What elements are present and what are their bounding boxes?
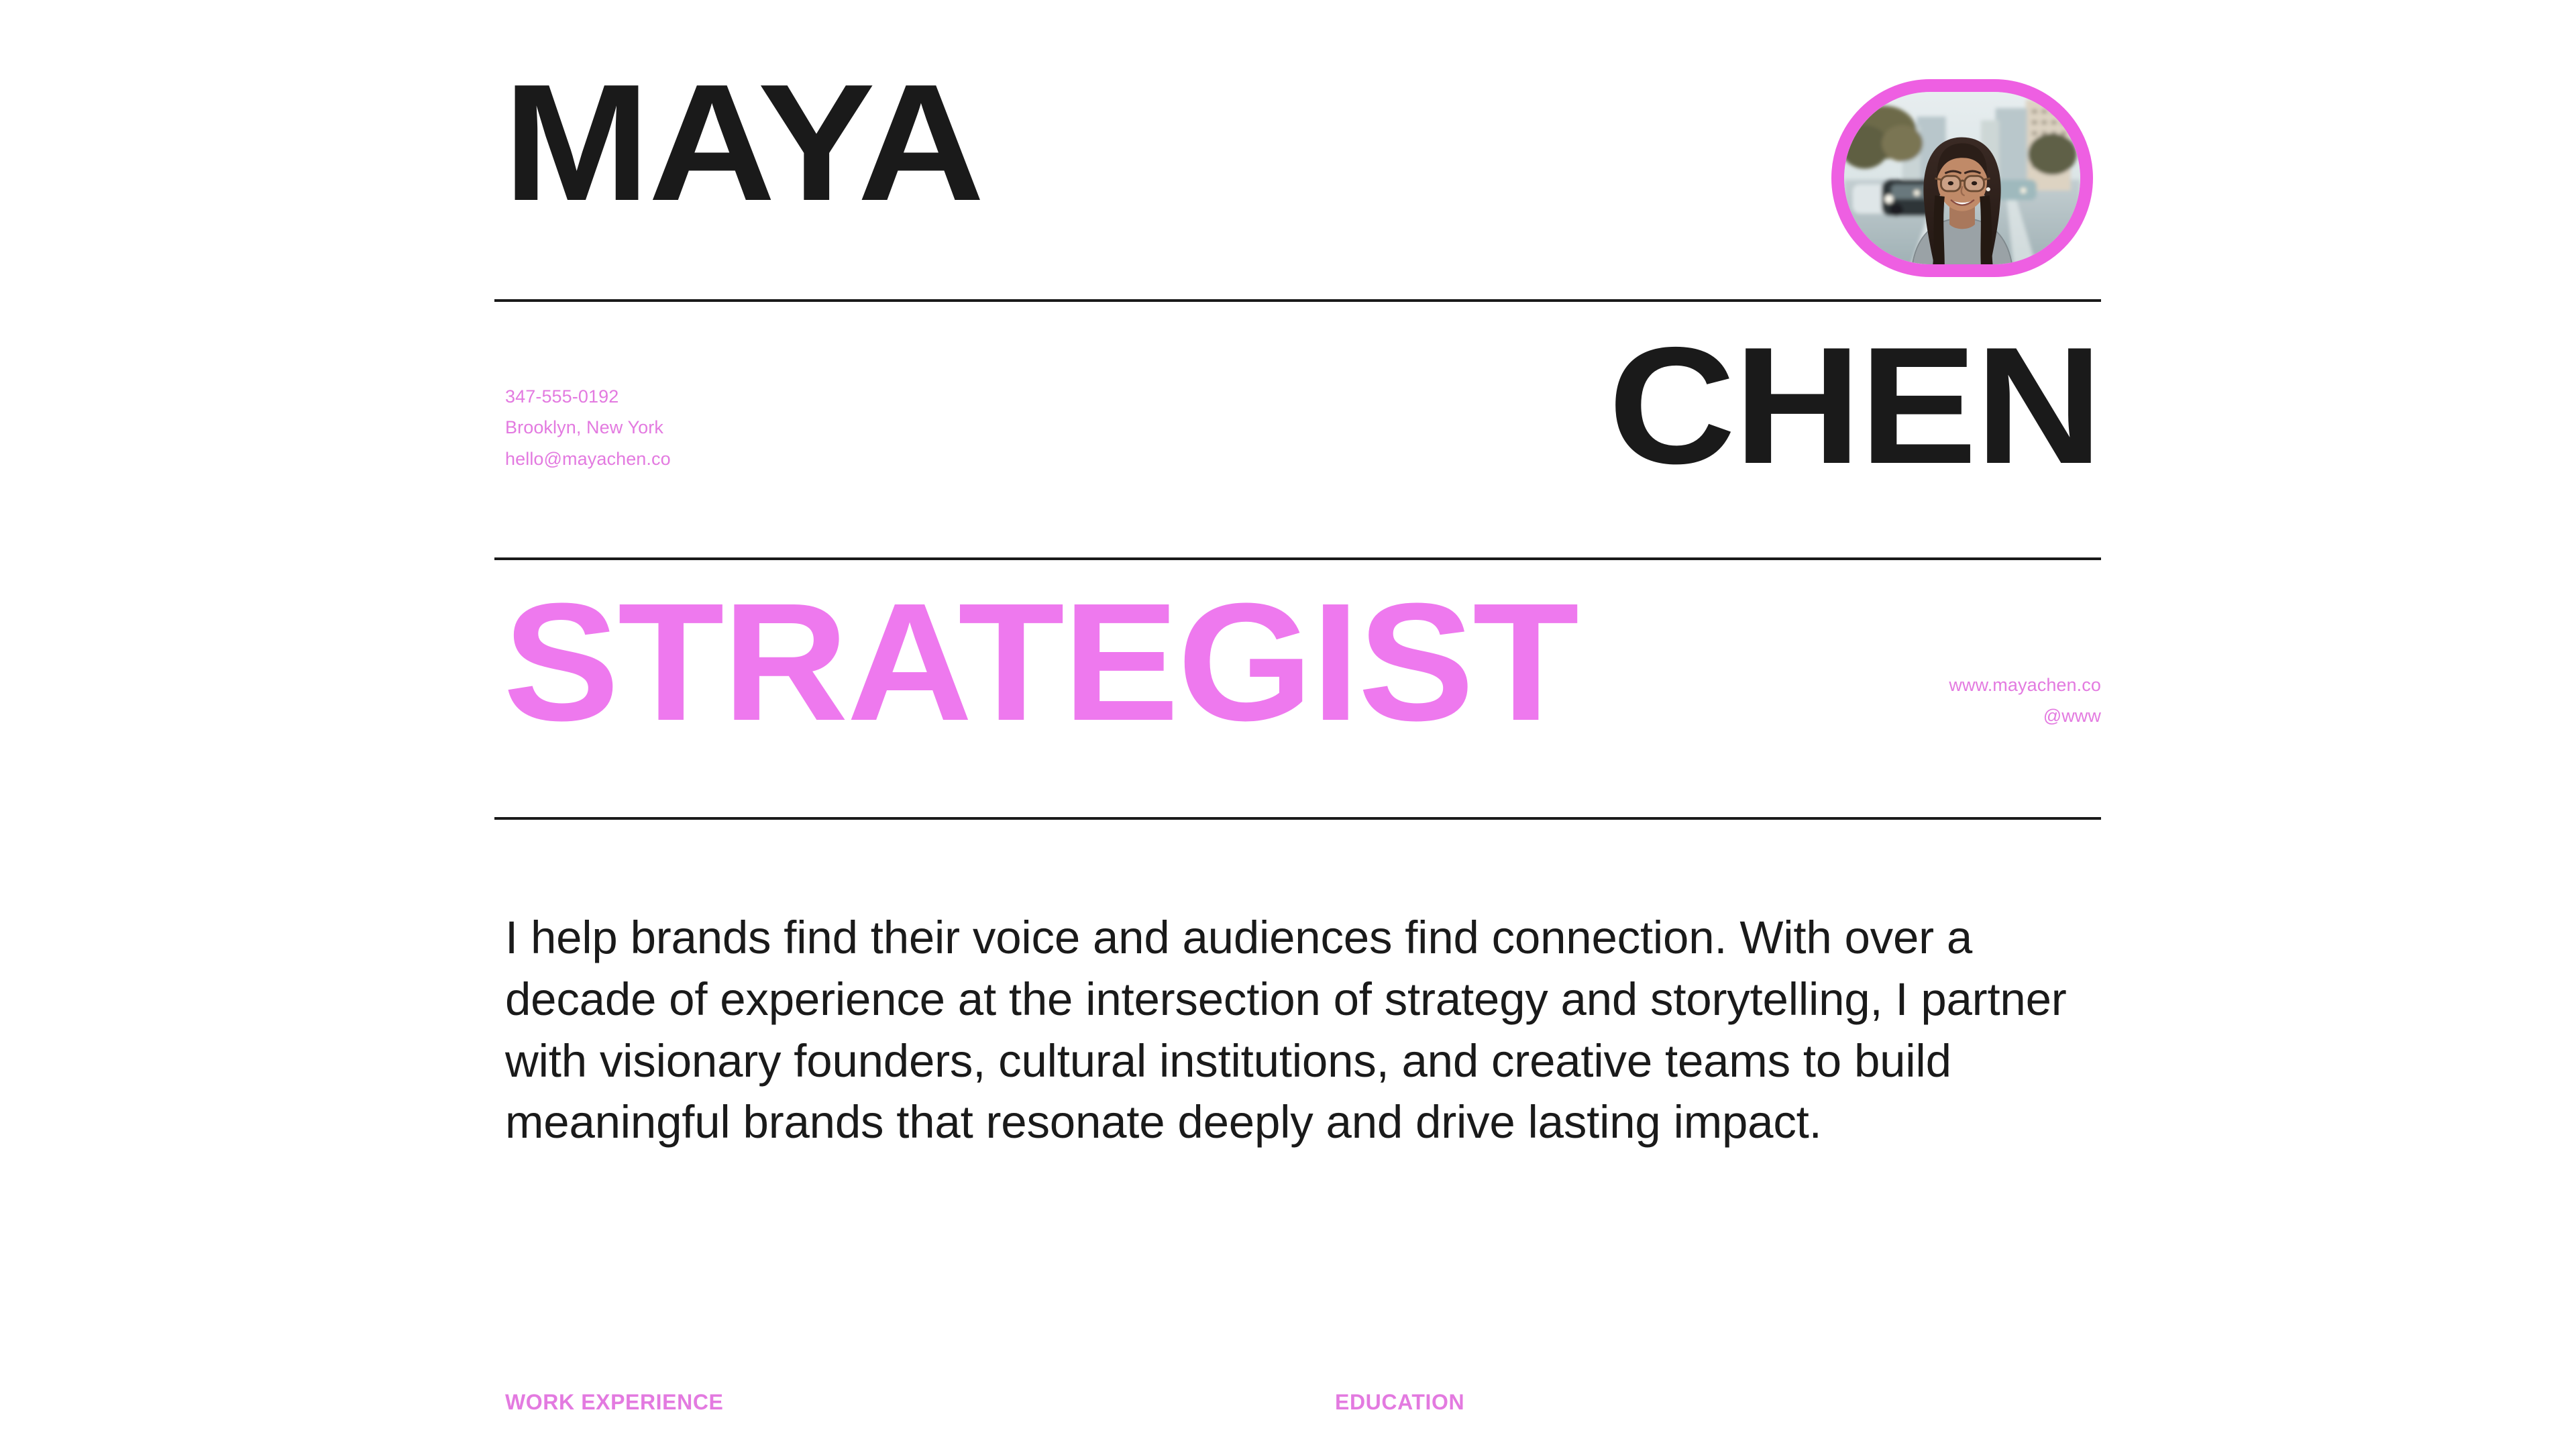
- divider-rule-1: [494, 299, 2101, 302]
- contact-email[interactable]: hello@mayachen.co: [505, 443, 671, 474]
- contact-phone[interactable]: 347-555-0192: [505, 381, 671, 412]
- link-social[interactable]: @www: [1949, 700, 2101, 731]
- section-heading-education: EDUCATION: [1335, 1390, 1464, 1415]
- avatar-photo: [1844, 92, 2080, 264]
- role-title: STRATEGIST: [503, 592, 1577, 733]
- contact-location: Brooklyn, New York: [505, 412, 671, 443]
- avatar: [1831, 79, 2093, 277]
- divider-rule-3: [494, 817, 2101, 820]
- resume-page: MAYA: [0, 0, 2576, 1449]
- page-title-last-name: CHEN: [1609, 335, 2101, 475]
- divider-rule-2: [494, 557, 2101, 560]
- section-heading-work-experience: WORK EXPERIENCE: [505, 1390, 723, 1415]
- summary-paragraph: I help brands find their voice and audie…: [505, 907, 2108, 1153]
- link-website[interactable]: www.mayachen.co: [1949, 669, 2101, 700]
- links-info: www.mayachen.co @www: [1949, 669, 2101, 732]
- page-title-first-name: MAYA: [503, 72, 983, 212]
- contact-info: 347-555-0192 Brooklyn, New York hello@ma…: [505, 381, 671, 474]
